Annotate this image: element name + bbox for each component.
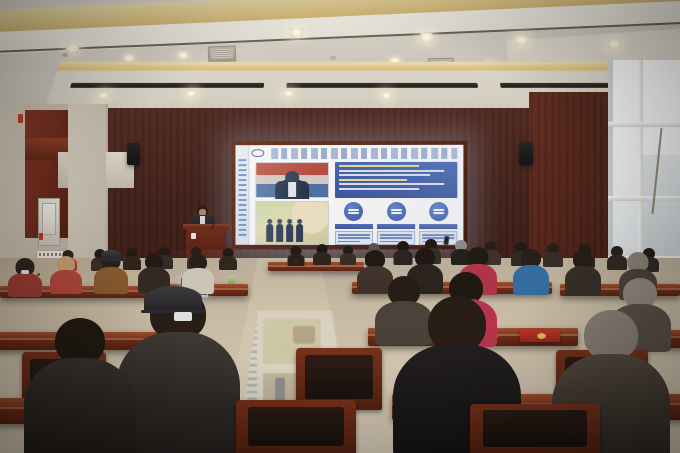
audience-member bbox=[184, 254, 212, 292]
slide-bullet-line bbox=[339, 165, 419, 167]
slide-vertical-text bbox=[238, 159, 246, 239]
photo-figure bbox=[276, 224, 283, 242]
column-header-bar bbox=[419, 224, 457, 229]
audience-member bbox=[288, 246, 304, 264]
audience-member bbox=[516, 249, 546, 293]
column-header-bar bbox=[377, 224, 415, 229]
slide-surface bbox=[235, 145, 463, 245]
audience-member bbox=[220, 248, 236, 269]
audience-member bbox=[394, 241, 411, 264]
ceiling-slot bbox=[70, 83, 264, 88]
photo-figure bbox=[296, 224, 303, 242]
coffer-cove-light bbox=[57, 62, 623, 70]
ceiling-slot bbox=[286, 83, 478, 88]
slide-portrait-photo bbox=[255, 162, 329, 198]
organization-logo-icon bbox=[251, 149, 264, 157]
slide-bullet-line bbox=[339, 188, 419, 190]
audience-member bbox=[10, 258, 40, 294]
audience-member bbox=[568, 250, 598, 294]
downlight-icon bbox=[290, 28, 303, 37]
cap-icon bbox=[101, 250, 121, 260]
circle-badge-icon bbox=[429, 202, 448, 221]
slide-three-column-group bbox=[335, 202, 457, 245]
photo-group-figures bbox=[266, 220, 308, 242]
slide-title bbox=[271, 148, 457, 159]
downlight-icon bbox=[124, 55, 134, 62]
chair bbox=[236, 400, 356, 453]
tea-cup bbox=[228, 276, 235, 284]
audience-member bbox=[124, 248, 140, 269]
column-header-bar bbox=[335, 224, 373, 229]
conference-hall-photo bbox=[0, 0, 680, 453]
audience-member bbox=[140, 253, 168, 291]
fire-alarm-icon bbox=[18, 114, 23, 123]
downlight-icon bbox=[608, 40, 621, 49]
slide-field-photo bbox=[255, 201, 329, 245]
downlight-icon bbox=[66, 44, 79, 53]
slide-bullet-panel bbox=[335, 162, 457, 198]
ceiling-slot bbox=[500, 83, 612, 88]
smoke-detector-icon bbox=[330, 56, 336, 60]
window-mullion-horizontal bbox=[608, 122, 680, 127]
photo-figure bbox=[266, 224, 273, 242]
smoke-detector-icon bbox=[62, 53, 68, 57]
slide-column bbox=[335, 202, 373, 245]
slide-column bbox=[377, 202, 415, 245]
audience-member bbox=[52, 256, 80, 292]
photo-figure bbox=[286, 224, 293, 242]
cap-icon bbox=[144, 286, 202, 312]
downlight-icon bbox=[186, 91, 196, 97]
downlight-icon bbox=[98, 93, 109, 99]
downlight-icon bbox=[178, 52, 188, 59]
audience-member-foreground bbox=[28, 318, 132, 453]
window-mullion-horizontal bbox=[608, 196, 680, 201]
slide-bullet-line bbox=[339, 170, 444, 172]
audience-member bbox=[314, 244, 330, 264]
audience-member bbox=[340, 246, 355, 264]
face-mask bbox=[174, 312, 192, 321]
slide-bullet-line bbox=[339, 174, 430, 176]
circle-badge-icon bbox=[387, 202, 406, 221]
face-mask bbox=[21, 270, 29, 274]
chair bbox=[470, 404, 600, 453]
downlight-icon bbox=[515, 36, 528, 45]
wall-speaker-left bbox=[127, 143, 140, 165]
downlight-icon bbox=[284, 91, 294, 97]
hvac-vent bbox=[208, 46, 237, 63]
wall-speaker-right bbox=[519, 142, 533, 165]
alarm-indicator-icon bbox=[39, 233, 43, 240]
downlight-icon bbox=[420, 33, 433, 42]
slide-bullet-line bbox=[339, 183, 444, 185]
slide-bullet-line bbox=[339, 179, 407, 181]
photo-figure-shirt bbox=[288, 182, 296, 197]
screen-frame bbox=[231, 141, 467, 249]
audience-member bbox=[544, 243, 561, 266]
projection-screen[interactable] bbox=[231, 141, 467, 249]
red-booklet[interactable] bbox=[520, 330, 560, 342]
water-cup bbox=[191, 233, 196, 239]
circle-badge-icon bbox=[344, 202, 363, 221]
downlight-icon bbox=[381, 93, 391, 99]
